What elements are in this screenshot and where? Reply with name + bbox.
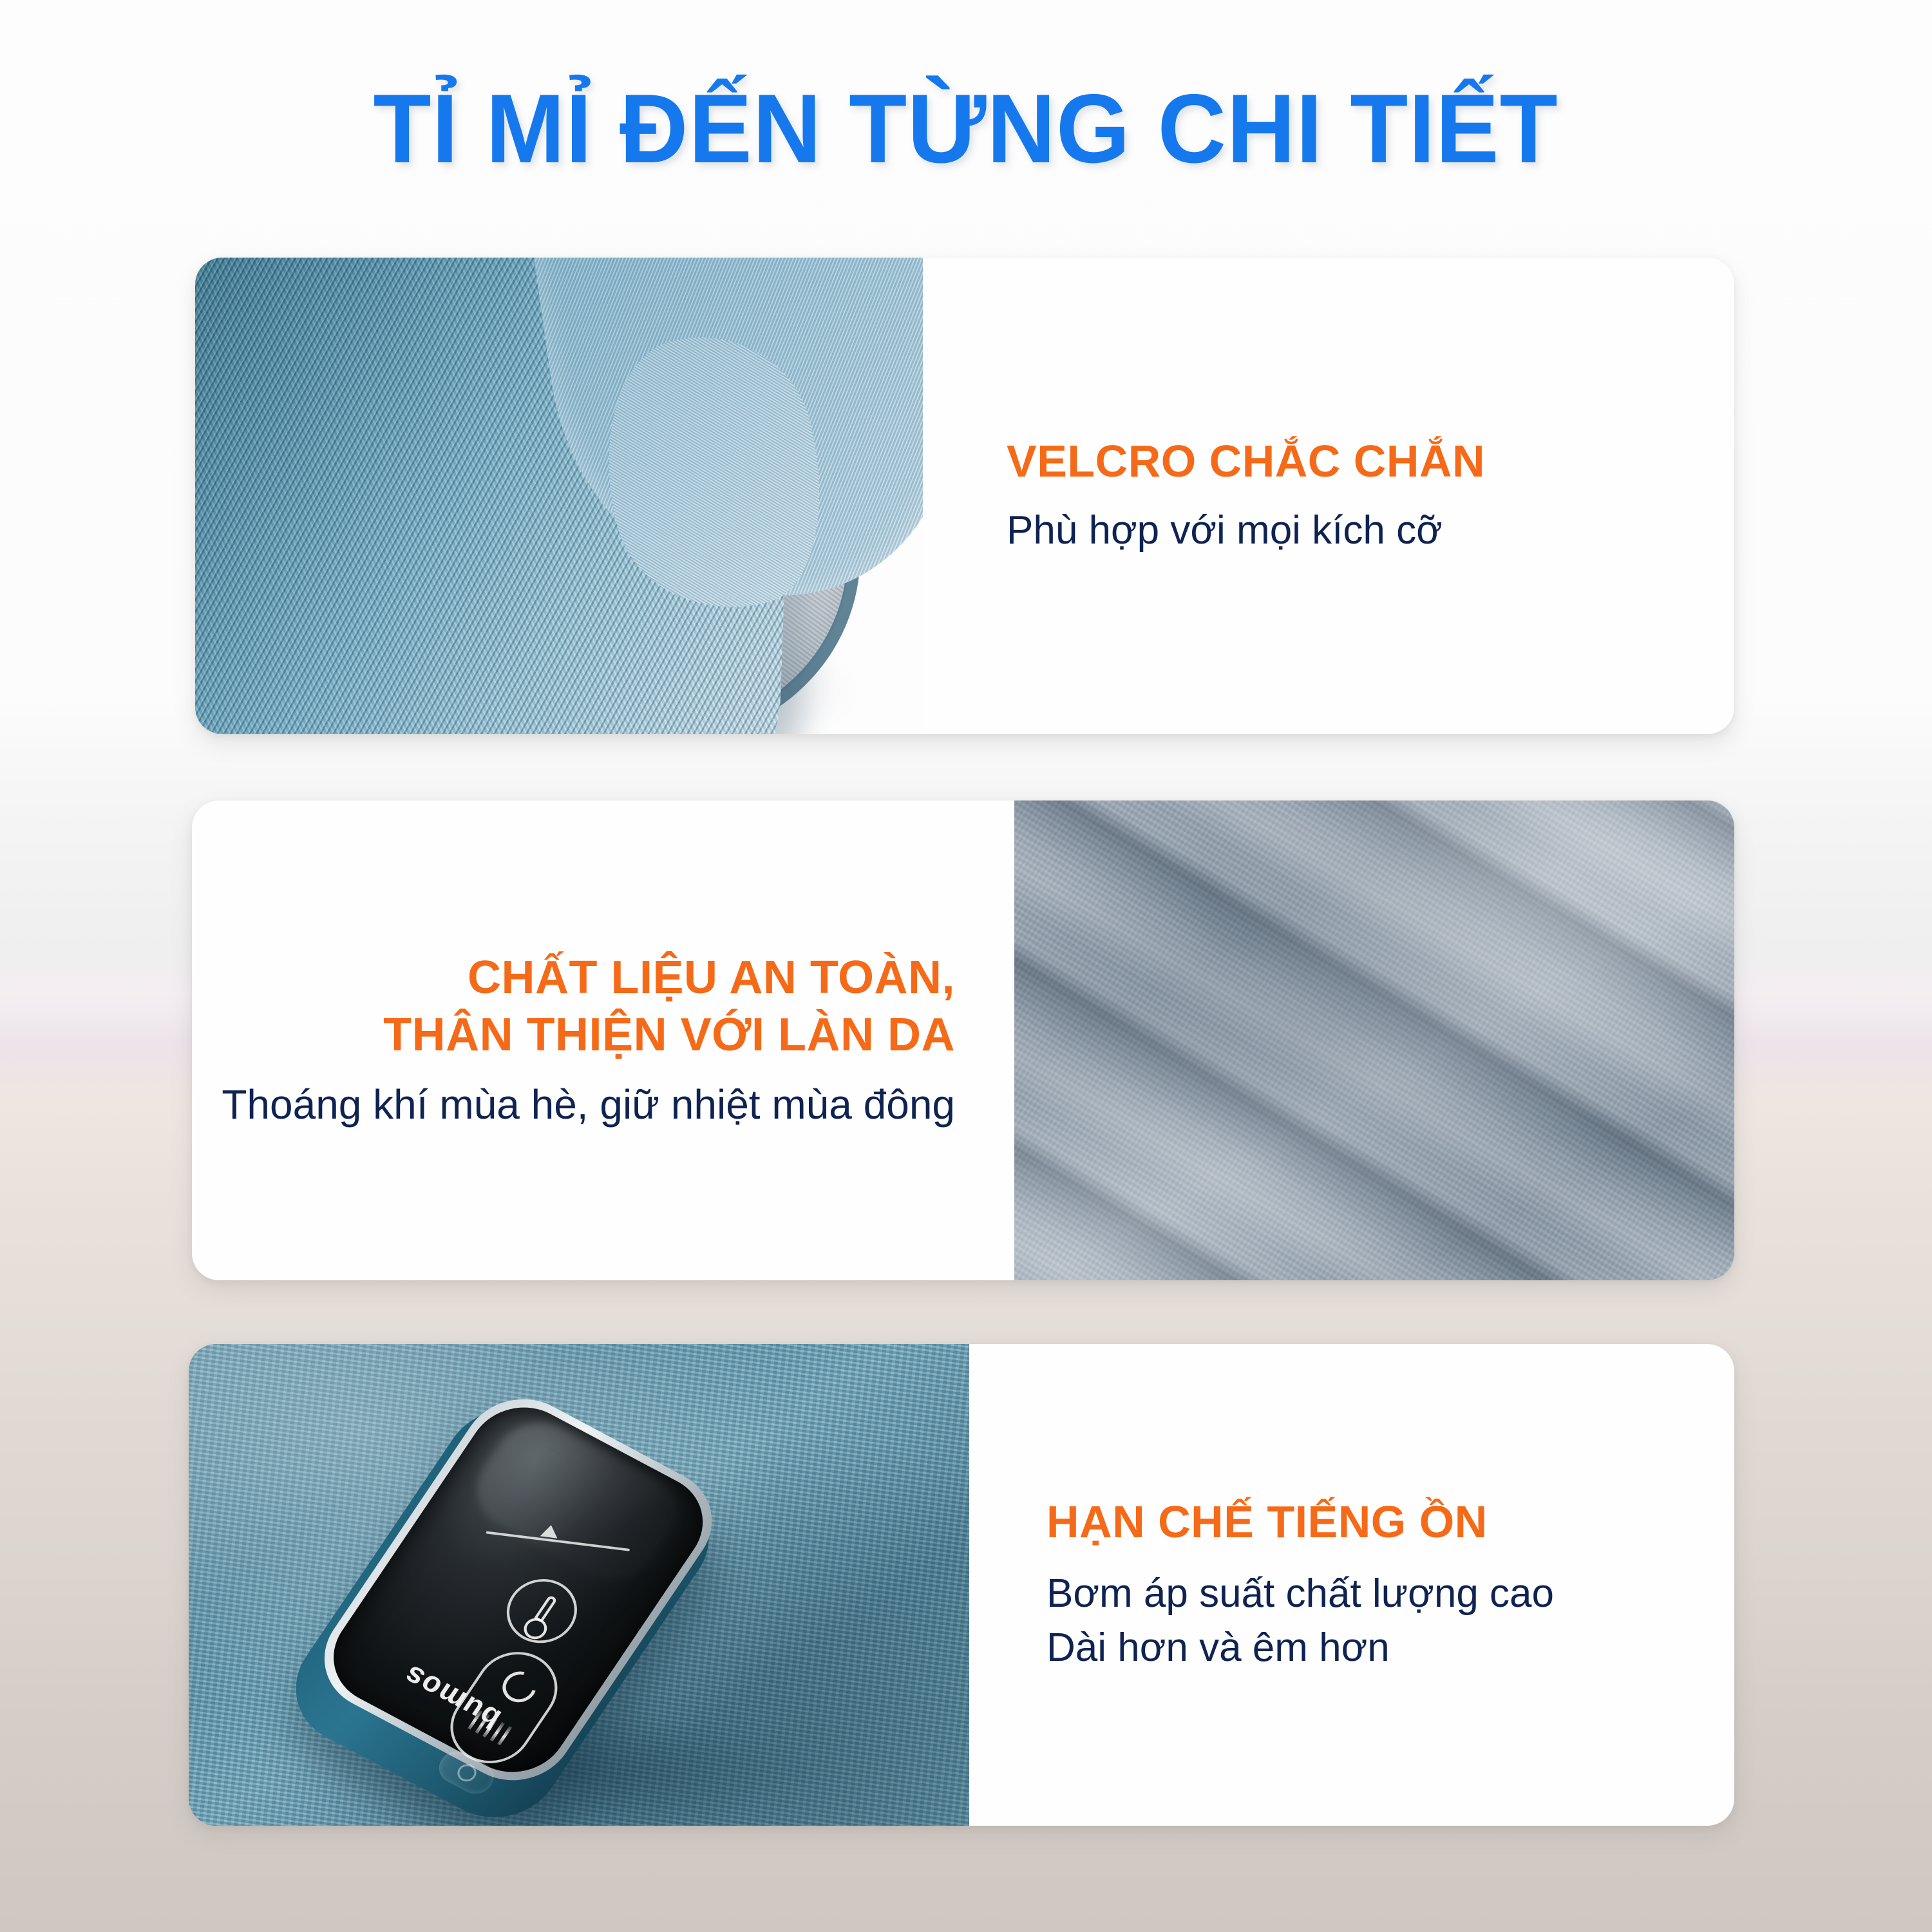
- card-material-subtitle: Thoáng khí mùa hè, giữ nhiệt mùa đông: [222, 1078, 955, 1132]
- temperature-button: [493, 1567, 590, 1654]
- page-title: TỈ MỈ ĐẾN TỪNG CHI TIẾT: [374, 76, 1558, 182]
- plush-fleece-photo: [1014, 800, 1734, 1280]
- card-velcro-subtitle: Phù hợp với mọi kích cỡ: [1007, 505, 1734, 557]
- controller-photo: bumos: [189, 1344, 969, 1826]
- card-velcro-heading: VELCRO CHẮC CHẮN: [1007, 435, 1734, 488]
- feature-card-velcro: VELCRO CHẮC CHẮN Phù hợp với mọi kích cỡ: [195, 258, 1734, 734]
- product-feature-page: TỈ MỈ ĐẾN TỪNG CHI TIẾT VELCRO CHẮC CHẮN…: [0, 0, 1932, 1932]
- card-material-heading-line2: THÂN THIỆN VỚI LÀN DA: [383, 1007, 955, 1064]
- feature-card-material: CHẤT LIỆU AN TOÀN, THÂN THIỆN VỚI LÀN DA…: [192, 800, 1734, 1280]
- velcro-flap-photo: [195, 258, 923, 734]
- card-noise-subtitle-line2: Dài hơn và êm hơn: [1046, 1622, 1734, 1674]
- card-material-copy: CHẤT LIỆU AN TOÀN, THÂN THIỆN VỚI LÀN DA…: [192, 800, 1014, 1280]
- thermometer-icon: [534, 1595, 558, 1623]
- card-noise-heading: HẠN CHẾ TIẾNG ỒN: [1046, 1495, 1734, 1549]
- cycle-arrow-icon: [497, 1666, 542, 1708]
- card-noise-subtitle-line1: Bơm áp suất chất lượng cao: [1046, 1568, 1734, 1620]
- page-title-wrap: TỈ MỈ ĐẾN TỪNG CHI TIẾT: [0, 76, 1932, 182]
- card-noise-copy: HẠN CHẾ TIẾNG ỒN Bơm áp suất chất lượng …: [969, 1344, 1734, 1826]
- card-material-heading-line1: CHẤT LIỆU AN TOÀN,: [468, 949, 955, 1007]
- card-velcro-copy: VELCRO CHẮC CHẮN Phù hợp với mọi kích cỡ: [923, 258, 1734, 734]
- level-slider-marker: [540, 1524, 560, 1538]
- fleece-sheen: [1014, 800, 1734, 1280]
- feature-card-noise: bumos HẠN CHẾ TIẾNG ỒN Bơm áp suất chất …: [189, 1344, 1734, 1826]
